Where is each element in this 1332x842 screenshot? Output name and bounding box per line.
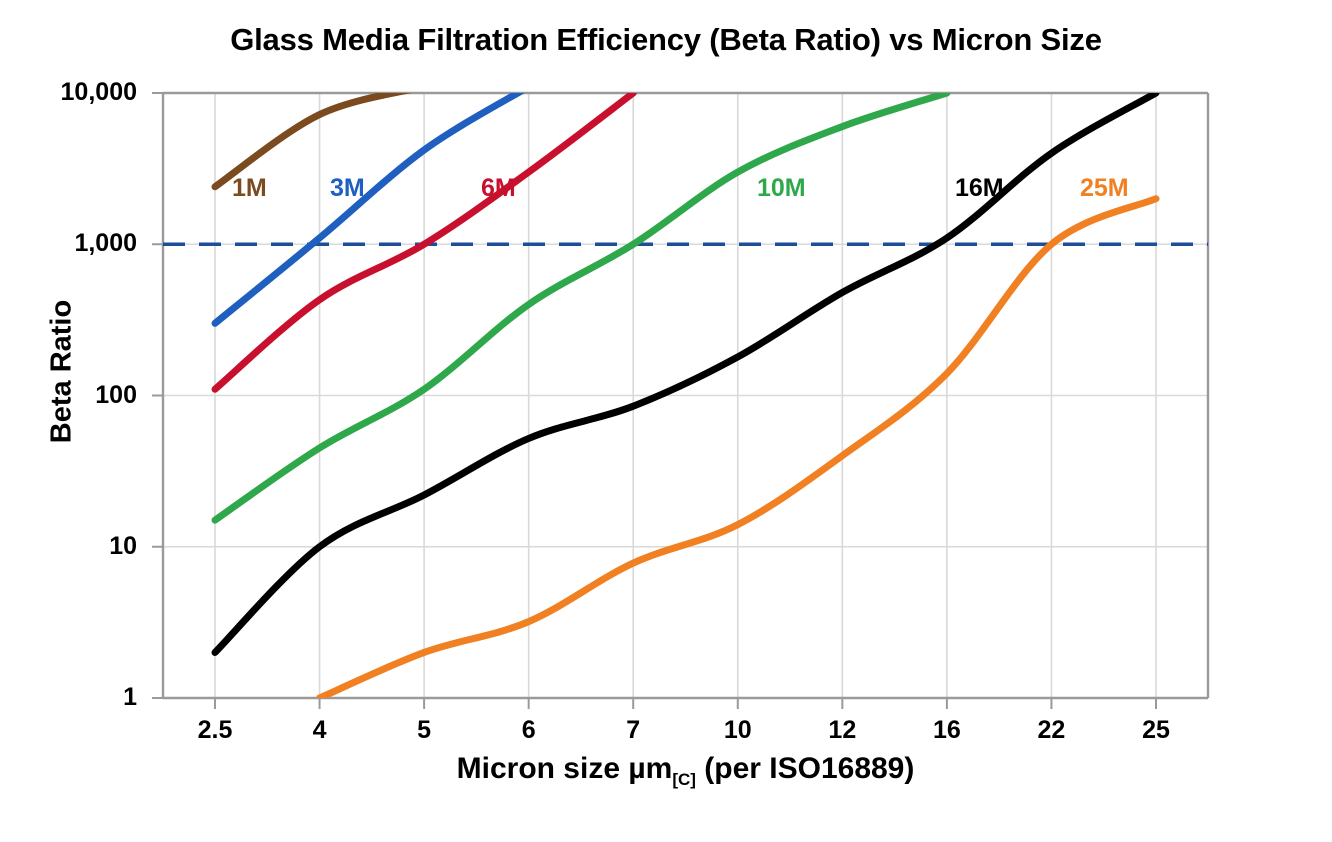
x-tick-label: 7 bbox=[588, 718, 678, 743]
y-axis-title: Beta Ratio bbox=[46, 252, 79, 492]
series-label-6m: 6M bbox=[481, 176, 516, 201]
x-tick-label: 5 bbox=[379, 718, 469, 743]
y-tick-label: 1 bbox=[0, 685, 137, 710]
y-tick-label: 10 bbox=[0, 534, 137, 559]
gridlines bbox=[163, 93, 1208, 698]
series-label-1m: 1M bbox=[232, 176, 267, 201]
y-tick-label: 10,000 bbox=[0, 80, 137, 105]
x-tick-label: 4 bbox=[275, 718, 365, 743]
x-tick-label: 2.5 bbox=[170, 718, 260, 743]
x-axis-title: Micron size µm[C] (per ISO16889) bbox=[163, 752, 1208, 790]
series-label-3m: 3M bbox=[330, 176, 365, 201]
x-axis-title-subscript: [C] bbox=[672, 770, 696, 789]
x-tick-label: 12 bbox=[797, 718, 887, 743]
x-tick-label: 6 bbox=[484, 718, 574, 743]
series-label-16m: 16M bbox=[955, 176, 1004, 201]
x-axis-title-main: Micron size µm bbox=[457, 752, 673, 785]
x-tick-label: 10 bbox=[693, 718, 783, 743]
series-label-25m: 25M bbox=[1080, 176, 1129, 201]
chart-page: Glass Media Filtration Efficiency (Beta … bbox=[0, 0, 1332, 842]
x-tick-label: 25 bbox=[1111, 718, 1201, 743]
x-axis-title-tail: (per ISO16889) bbox=[696, 752, 914, 785]
series-label-10m: 10M bbox=[757, 176, 806, 201]
x-tick-label: 16 bbox=[902, 718, 992, 743]
x-tick-label: 22 bbox=[1006, 718, 1096, 743]
